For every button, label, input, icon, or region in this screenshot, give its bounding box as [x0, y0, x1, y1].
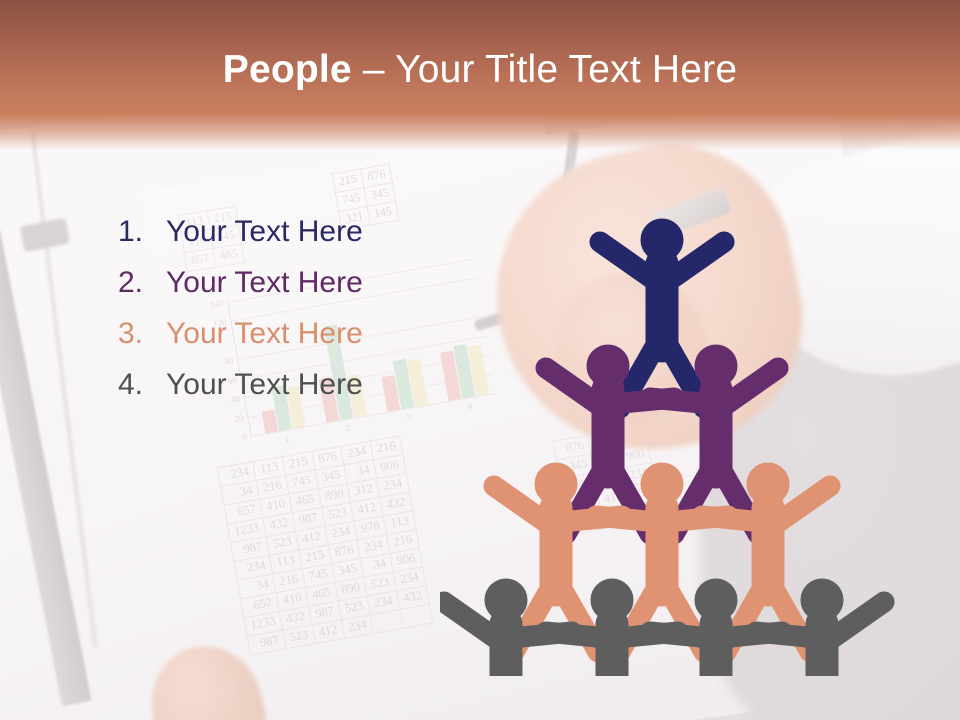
numbered-list: 1.Your Text Here2.Your Text Here3.Your T…: [118, 206, 448, 410]
title-strong-part: People: [223, 48, 352, 91]
people-pyramid-graphic: [440, 176, 900, 676]
list-item-number: 1.: [118, 206, 166, 257]
chart-x-tick-label: 1: [284, 433, 290, 444]
slide-canvas: 215876745345321145 113215216745657465 23…: [0, 0, 960, 720]
list-item-label: Your Text Here: [166, 308, 363, 359]
chart-y-tick-label: 20: [234, 413, 245, 424]
list-item: 3.Your Text Here: [118, 308, 448, 359]
list-item-number: 2.: [118, 257, 166, 308]
list-item: 2.Your Text Here: [118, 257, 448, 308]
title-rest-part: – Your Title Text Here: [352, 48, 737, 91]
chart-x-tick-label: 3: [406, 412, 412, 423]
list-item-label: Your Text Here: [166, 206, 363, 257]
page-title: People – Your Title Text Here: [0, 46, 960, 94]
list-item-label: Your Text Here: [166, 359, 363, 410]
list-item-number: 4.: [118, 359, 166, 410]
chart-y-tick-label: 0: [241, 432, 247, 443]
list-item-number: 3.: [118, 308, 166, 359]
chart-x-tick-label: 2: [345, 423, 351, 434]
pyramid-rows-group: [444, 219, 884, 676]
list-item: 1.Your Text Here: [118, 206, 448, 257]
list-item-label: Your Text Here: [166, 257, 363, 308]
list-item: 4.Your Text Here: [118, 359, 448, 410]
pyramid-svg: [440, 176, 900, 676]
